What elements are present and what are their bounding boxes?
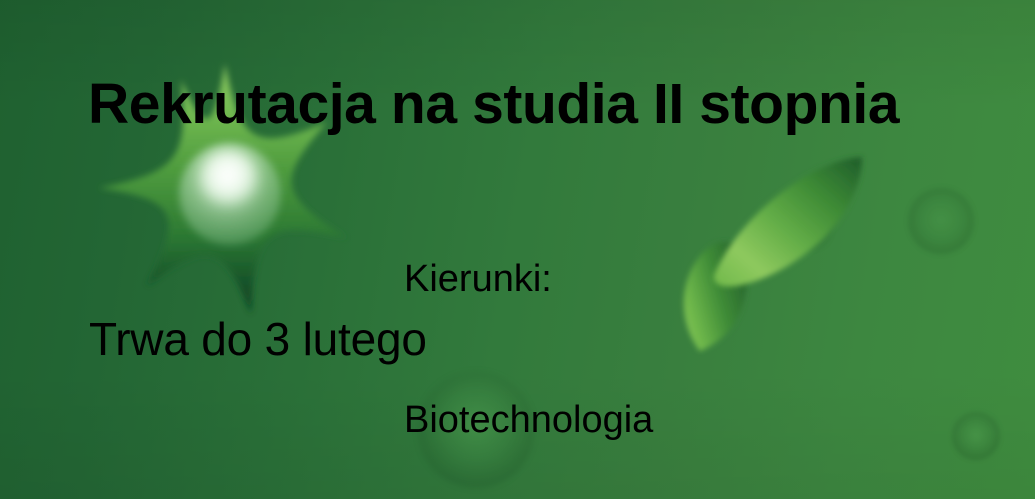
glossy-sphere-decoration bbox=[179, 143, 281, 245]
bubble-small-decoration bbox=[952, 412, 1000, 460]
sphere-highlight bbox=[199, 150, 259, 206]
courses-block: Kierunki: Biotechnologia Technologia bio… bbox=[404, 162, 841, 499]
page-title: Rekrutacja na studia II stopnia bbox=[88, 76, 899, 133]
deadline-text: Trwa do 3 lutego bbox=[89, 316, 427, 362]
poster-canvas: Rekrutacja na studia II stopnia Kierunki… bbox=[0, 0, 1035, 499]
starburst-icon bbox=[55, 22, 395, 342]
courses-label: Kierunki: bbox=[404, 256, 841, 303]
bubble-medium-decoration bbox=[908, 188, 974, 254]
course-item-1: Biotechnologia bbox=[404, 397, 841, 444]
